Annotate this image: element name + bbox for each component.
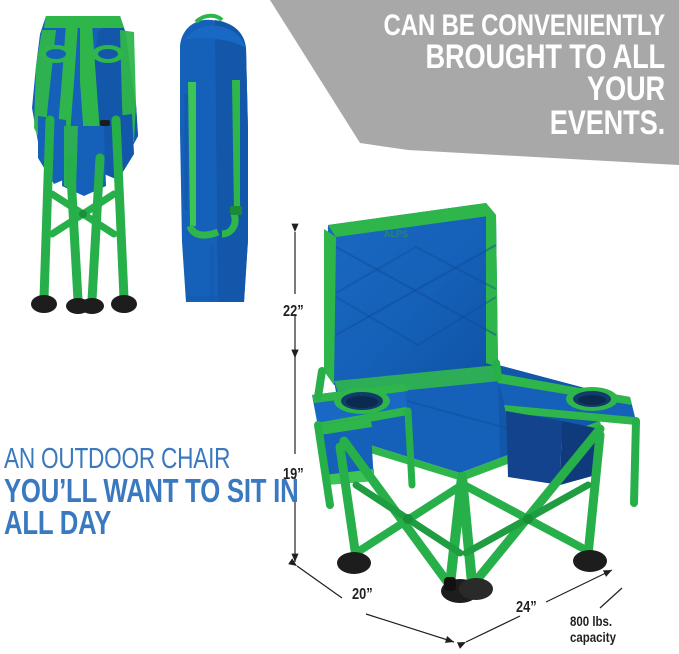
banner-line-3: EVENTS. [361,108,665,140]
banner-line-2: BROUGHT TO ALL YOUR [361,42,665,106]
dimension-label-24: 24” [516,599,542,617]
banner-line-1: CAN BE CONVENIENTLY [361,12,665,40]
folded-chair-feet-icon [31,295,137,314]
banner-shape: CAN BE CONVENIENTLY BROUGHT TO ALL YOUR … [255,0,679,175]
folded-chair-image [8,8,168,326]
banner-text-block: CAN BE CONVENIENTLY BROUGHT TO ALL YOUR … [285,12,665,140]
dimension-label-20: 20” [352,586,378,604]
depth-dimension-20 [297,566,454,642]
headline-line-2: YOU’LL WANT TO SIT IN [4,476,222,506]
infographic-canvas: CAN BE CONVENIENTLY BROUGHT TO ALL YOUR … [0,0,679,649]
headline-block: AN OUTDOOR CHAIR YOU’LL WANT TO SIT IN A… [4,446,284,538]
carry-bag-icon [180,16,248,302]
dimension-lines [270,210,679,649]
capacity-label: 800 lbs. capacity [570,613,679,645]
headline-line-3: ALL DAY [4,508,222,538]
carry-bag-image [160,10,270,322]
headline-line-1: AN OUTDOOR CHAIR [4,446,222,473]
dimension-label-22: 22” [283,303,309,321]
